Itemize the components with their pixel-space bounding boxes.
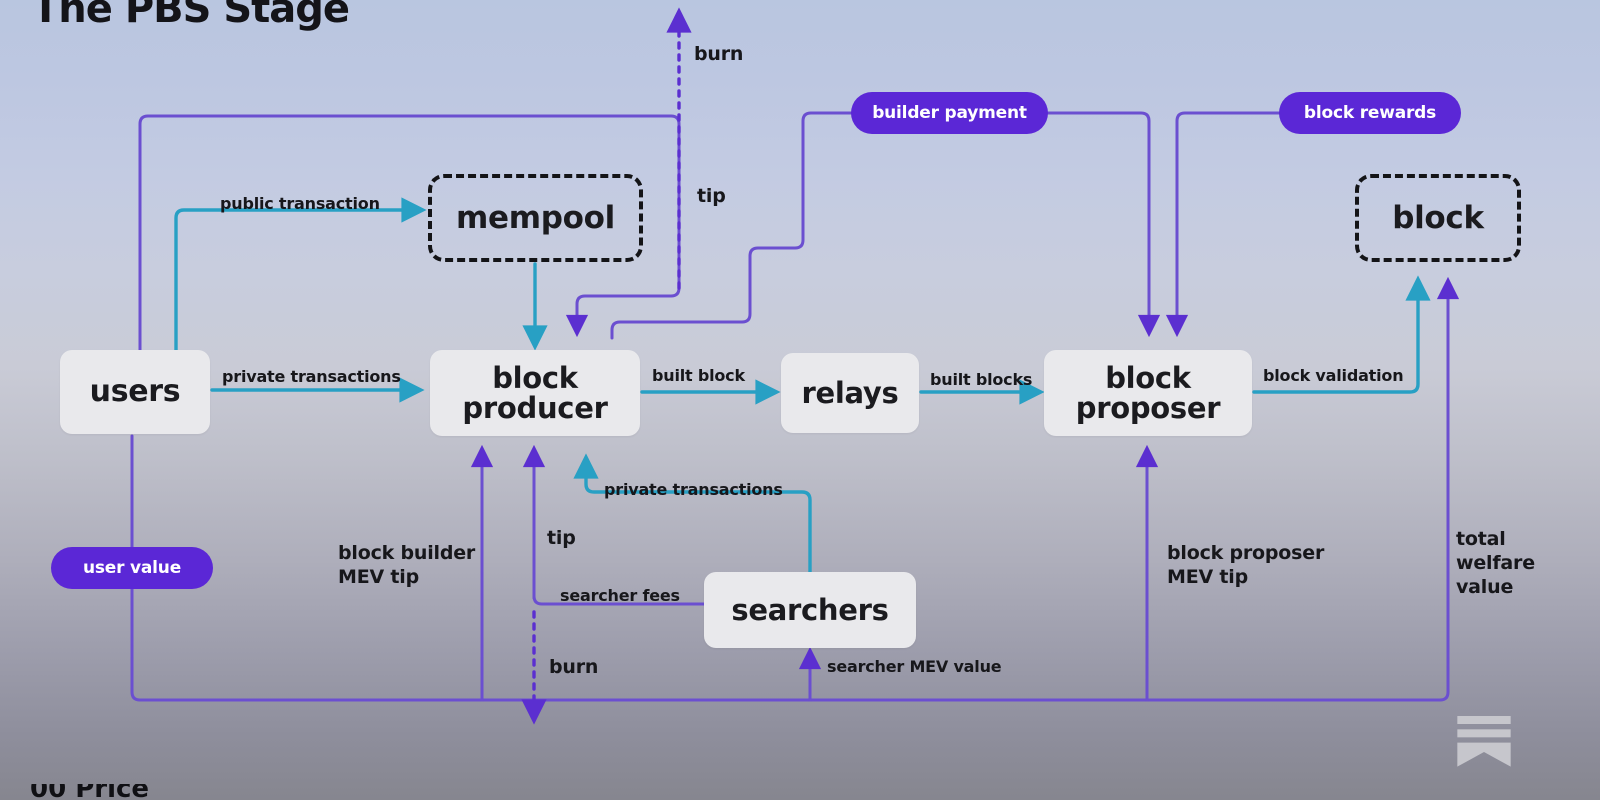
node-users[interactable]: users	[60, 350, 210, 434]
pill-builder-payment-label: builder payment	[872, 103, 1027, 123]
node-searchers-label: searchers	[731, 595, 888, 625]
pill-block-rewards-label: block rewards	[1304, 103, 1436, 123]
edge-label-built-block: built block	[652, 366, 745, 386]
node-block-label: block	[1392, 202, 1484, 235]
edge-label-searcher-mev-value: searcher MEV value	[827, 657, 1001, 677]
node-block-producer-label: block producer	[462, 363, 607, 424]
pill-builder-payment[interactable]: builder payment	[851, 92, 1048, 134]
pill-user-value[interactable]: user value	[51, 547, 213, 589]
node-block[interactable]: block	[1355, 174, 1521, 262]
node-relays[interactable]: relays	[781, 353, 919, 433]
edge-label-private-transactions: private transactions	[222, 367, 401, 387]
edge-label-public-transaction: public transaction	[220, 194, 380, 214]
edge-label-searcher-fees: searcher fees	[560, 586, 680, 606]
diagram-canvas: The PBS Stage	[0, 0, 1600, 800]
node-searchers[interactable]: searchers	[704, 572, 916, 648]
edge-label-block-builder-mev-tip: block builder MEV tip	[338, 542, 475, 590]
page-title: The PBS Stage	[32, 0, 349, 32]
edge-label-private-transactions-2: private transactions	[604, 480, 783, 500]
edge-label-block-validation: block validation	[1263, 366, 1403, 386]
node-relays-label: relays	[802, 378, 899, 408]
edge-label-tip-mid: tip	[547, 527, 576, 551]
edge-label-tip-top: tip	[697, 185, 726, 209]
node-block-proposer-label: block proposer	[1076, 363, 1221, 424]
substack-logo-icon	[1452, 708, 1516, 772]
node-block-producer[interactable]: block producer	[430, 350, 640, 436]
edge-label-block-proposer-mev-tip: block proposer MEV tip	[1167, 542, 1324, 590]
pill-user-value-label: user value	[83, 558, 181, 578]
node-mempool[interactable]: mempool	[428, 174, 643, 262]
edge-label-total-welfare-value: total welfare value	[1456, 528, 1535, 599]
node-users-label: users	[90, 376, 181, 408]
pill-block-rewards[interactable]: block rewards	[1279, 92, 1461, 134]
edge-label-burn-bottom: burn	[549, 656, 598, 680]
node-block-proposer[interactable]: block proposer	[1044, 350, 1252, 436]
bottom-cutoff-text: 00 Price	[0, 784, 1600, 800]
edge-label-built-blocks: built blocks	[930, 370, 1032, 390]
node-mempool-label: mempool	[456, 202, 615, 235]
edge-label-burn-top: burn	[694, 43, 743, 67]
